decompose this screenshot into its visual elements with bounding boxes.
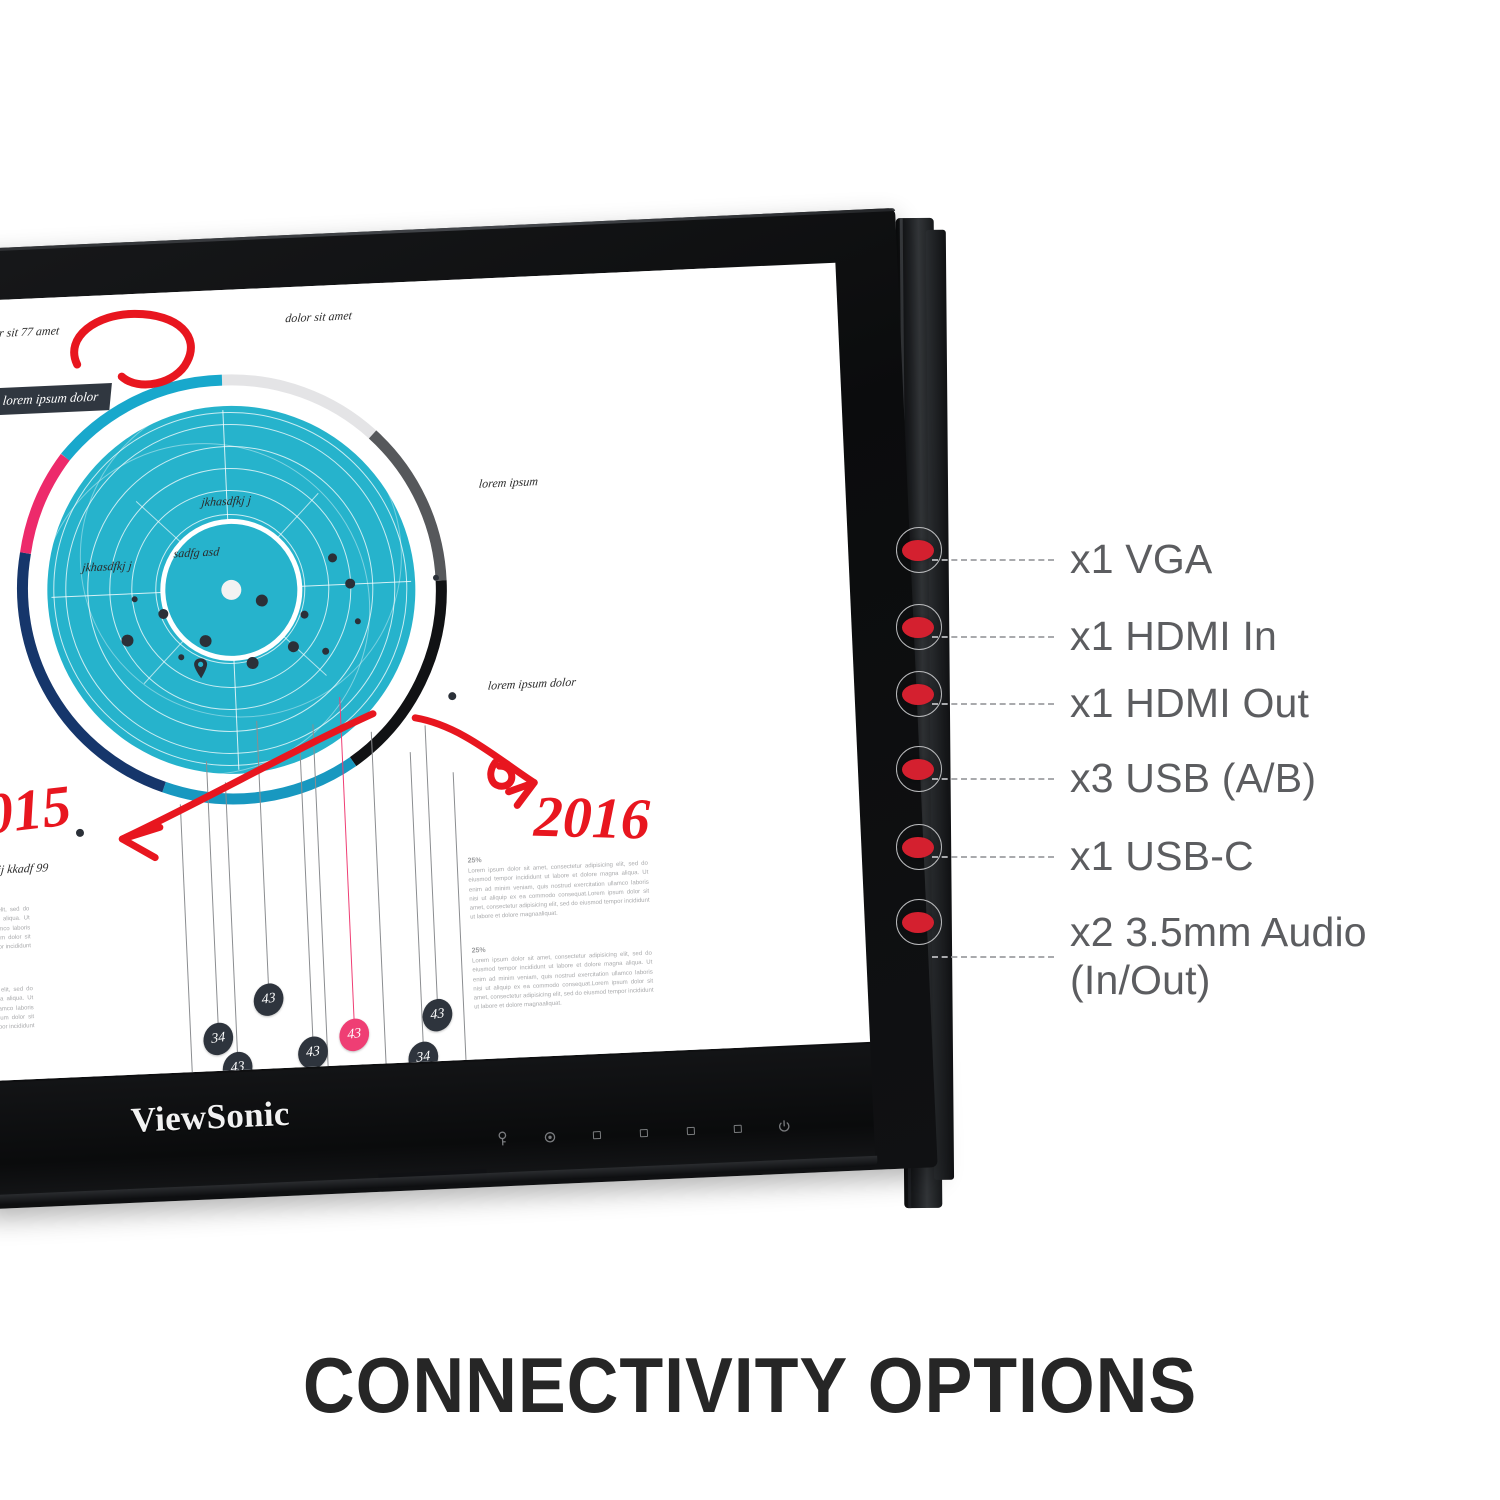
callout-dashed-line — [932, 703, 1054, 705]
port-dot-core — [902, 912, 934, 933]
ring-label-top-right: dolor sit amet — [285, 308, 353, 326]
callout-audio: x2 3.5mm Audio (In/Out) — [932, 909, 1367, 1004]
value-badge: 43 — [253, 981, 284, 1018]
callout-dashed-line — [932, 956, 1054, 958]
text-block-left-1: 25% Lorem ipsum dolor sit amet, consecte… — [0, 895, 32, 969]
port-dot-core — [902, 540, 934, 561]
target-icon[interactable] — [542, 1129, 558, 1145]
callout-dashed-line — [932, 778, 1054, 780]
ring-label-right-lower: lorem ipsum dolor — [487, 675, 577, 694]
value-badge: 43 — [297, 1034, 328, 1071]
callout-dashed-line — [932, 559, 1054, 561]
port-dot-core — [902, 759, 934, 780]
callout-label-vga: x1 VGA — [1070, 537, 1212, 583]
text-block-left-2: 25% Lorem ipsum dolor sit amet, consecte… — [0, 975, 35, 1049]
port-dot-core — [902, 684, 934, 705]
callout-hdmi-in: x1 HDMI In — [932, 614, 1277, 660]
text-block-body: Lorem ipsum dolor sit amet, consectetur … — [0, 985, 35, 1049]
callout-hdmi-out: x1 HDMI Out — [932, 681, 1309, 727]
callout-label-hdmi-in: x1 HDMI In — [1070, 614, 1277, 660]
square-icon[interactable] — [683, 1123, 699, 1139]
ring-label-top-left: dolor sit 77 amet — [0, 323, 60, 342]
page-title: CONNECTIVITY OPTIONS — [60, 1340, 1440, 1431]
infographic: 9443344343434343344343 lorem ipsum dolor… — [0, 263, 749, 1082]
callout-label-audio: x2 3.5mm Audio (In/Out) — [1070, 909, 1367, 1004]
port-dot-core — [902, 837, 934, 858]
monitor-screen: 9443344343434343344343 lorem ipsum dolor… — [0, 263, 870, 1082]
ring-label-right-upper: lorem ipsum — [478, 474, 539, 492]
monitor-panel: 9443344343434343344343 lorem ipsum dolor… — [0, 208, 938, 1210]
chart-label-hub: sadfg asd — [173, 544, 220, 561]
callout-label-usb-ab: x3 USB (A/B) — [1070, 756, 1316, 802]
chart-label-sector-left: jkhasdfkj j — [81, 558, 132, 575]
square-icon[interactable] — [729, 1121, 745, 1137]
text-block-right-1: 25% Lorem ipsum dolor sit amet, consecte… — [467, 850, 650, 924]
value-badge: 34 — [203, 1021, 234, 1058]
chart-label-sector-top: jkhasdfkj j — [201, 493, 252, 510]
viewsonic-logo: ViewSonic — [130, 1094, 291, 1141]
annotation-year-2015: 2015 — [0, 771, 74, 851]
callout-label-usb-c: x1 USB-C — [1070, 834, 1254, 880]
callout-usb-c: x1 USB-C — [932, 834, 1254, 880]
key-icon[interactable] — [495, 1131, 511, 1147]
value-badge: 43 — [422, 997, 453, 1034]
callout-vga: x1 VGA — [932, 537, 1212, 583]
square-icon[interactable] — [636, 1125, 652, 1141]
text-block-body: Lorem ipsum dolor sit amet, consectetur … — [468, 860, 650, 924]
callout-label-hdmi-out: x1 HDMI Out — [1070, 681, 1309, 727]
annotation-year-2016: 2016 — [533, 783, 651, 853]
text-block-body: Lorem ipsum dolor sit amet, consectetur … — [472, 950, 654, 1014]
annotation-arrow-left — [43, 705, 391, 910]
text-block-body: Lorem ipsum dolor sit amet, consectetur … — [0, 905, 32, 969]
value-badge: 43 — [339, 1017, 370, 1054]
ring-label-bottom-left: hneultij kkadf 99 — [0, 860, 49, 879]
port-dot-core — [902, 617, 934, 638]
callout-usb-ab: x3 USB (A/B) — [932, 756, 1316, 802]
map-pin-icon — [192, 657, 209, 680]
callout-dashed-line — [932, 856, 1054, 858]
annotation-circle-scribble — [53, 302, 218, 419]
square-icon[interactable] — [589, 1127, 605, 1143]
callout-dashed-line — [932, 636, 1054, 638]
text-block-right-2: 25% Lorem ipsum dolor sit amet, consecte… — [471, 940, 654, 1014]
power-icon[interactable] — [776, 1119, 792, 1135]
osd-button-row[interactable] — [495, 1119, 792, 1147]
monitor: 9443344343434343344343 lorem ipsum dolor… — [0, 190, 950, 1230]
